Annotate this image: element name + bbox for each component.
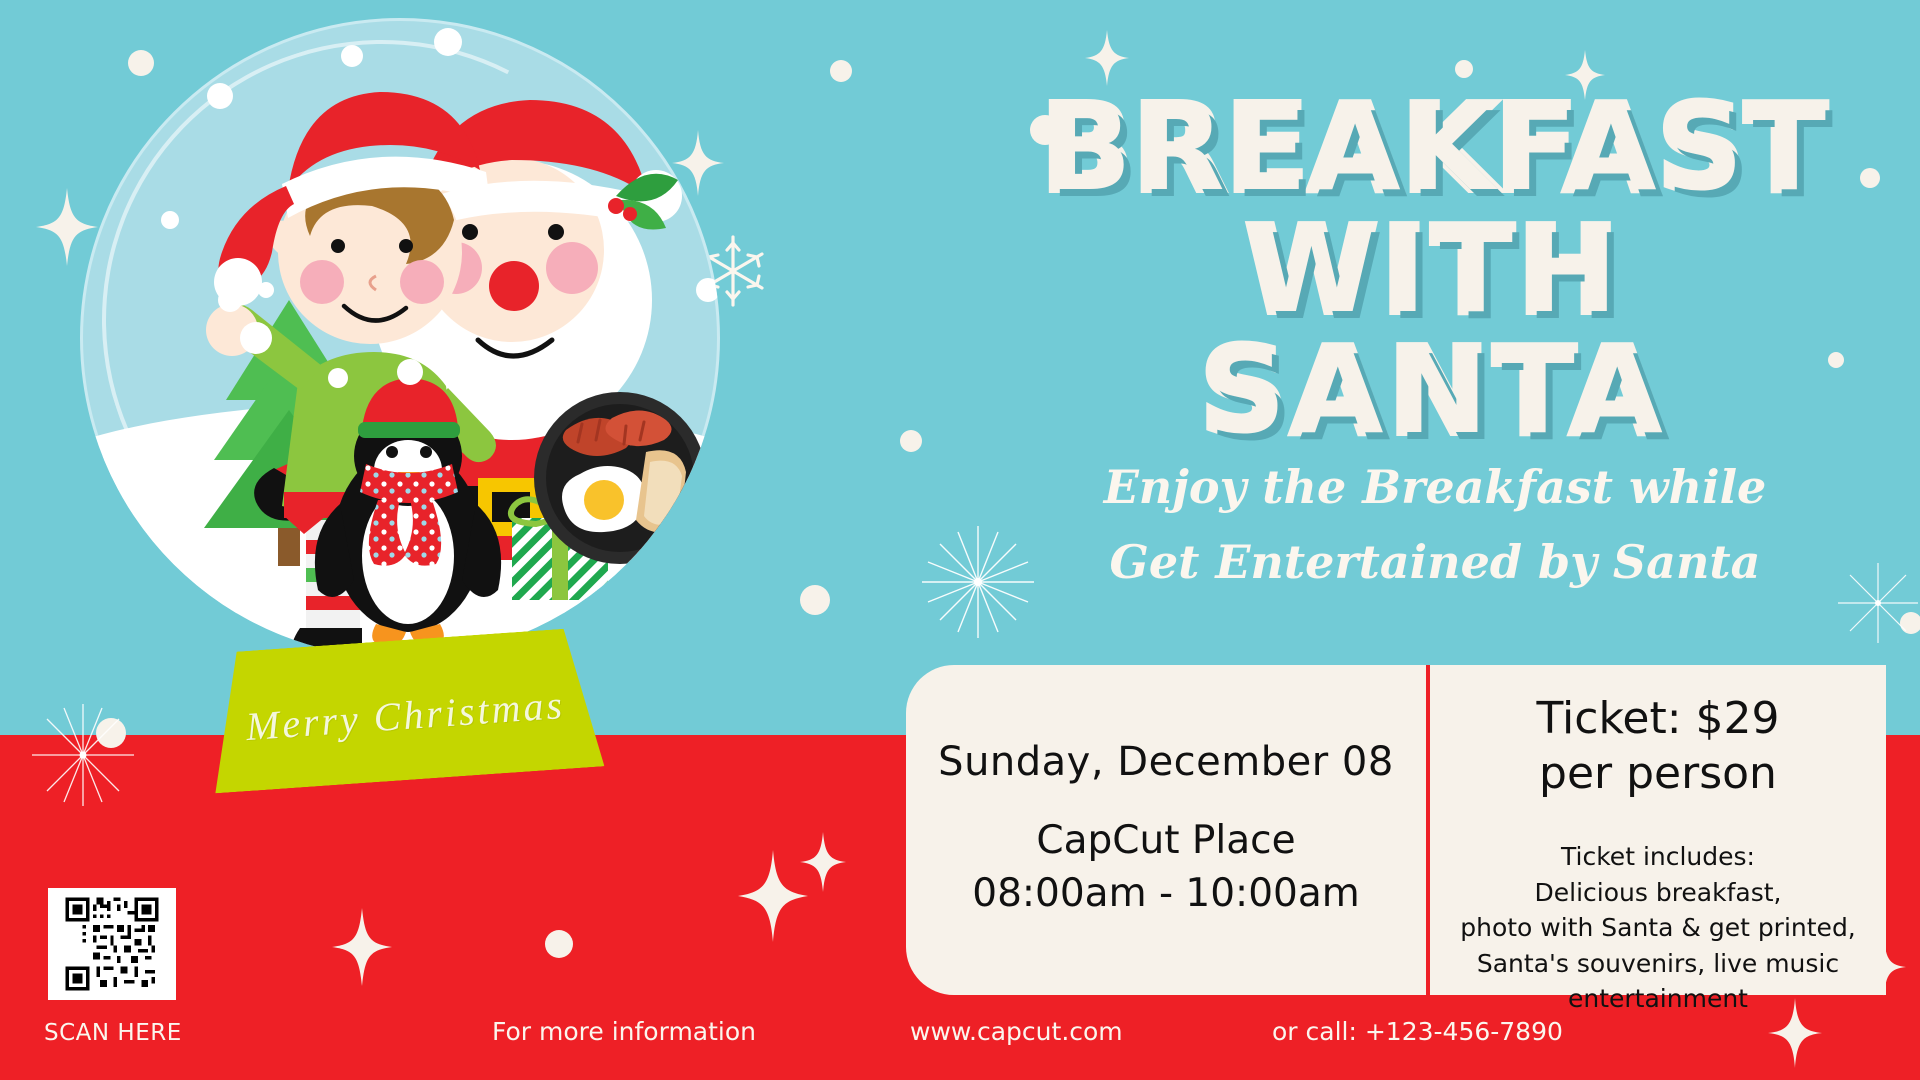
event-info-card: Sunday, December 08 CapCut Place 08:00am… — [906, 665, 1886, 995]
page-title: BREAKFAST WITH SANTA — [1020, 88, 1850, 453]
website-link[interactable]: www.capcut.com — [910, 1017, 1123, 1046]
ticket-price-line-1: Ticket: $29 — [1537, 691, 1780, 746]
merry-christmas-label: Merry Christmas — [209, 678, 601, 752]
headline-line-1: BREAKFAST — [1042, 79, 1828, 217]
headline-line-2: WITH SANTA — [1020, 210, 1850, 453]
sparkle-icon — [332, 908, 392, 986]
ticket-section: Ticket: $29 per person Ticket includes: … — [1430, 665, 1886, 995]
snow-dot — [1455, 60, 1473, 78]
qr-code[interactable] — [48, 888, 176, 1000]
qr-code-image — [54, 894, 170, 994]
includes-line-2: photo with Santa & get printed, — [1460, 910, 1856, 946]
more-information-label: For more information — [492, 1017, 756, 1046]
snow-dot — [1860, 168, 1880, 188]
sparkle-icon — [800, 832, 846, 892]
snow-dot — [830, 60, 852, 82]
event-venue-time: CapCut Place 08:00am - 10:00am — [972, 815, 1359, 920]
event-date: Sunday, December 08 — [938, 739, 1394, 785]
scan-here-label: SCAN HERE — [44, 1020, 182, 1046]
snow-dot — [900, 430, 922, 452]
event-time: 08:00am - 10:00am — [972, 868, 1359, 921]
event-details-section: Sunday, December 08 CapCut Place 08:00am… — [906, 665, 1426, 995]
event-venue: CapCut Place — [972, 815, 1359, 868]
subtitle-line-2: Get Entertained by Santa — [1020, 525, 1850, 600]
flyer-canvas: Merry Christmas BREAKFAST WITH SANTA Enj… — [0, 0, 1920, 1080]
breakfast-plate-icon — [534, 392, 706, 564]
includes-line-4: entertainment — [1460, 981, 1856, 1017]
ticket-includes: Ticket includes: Delicious breakfast, ph… — [1460, 839, 1856, 1017]
includes-line-3: Santa's souvenirs, live music — [1460, 946, 1856, 982]
ticket-price-line-2: per person — [1537, 746, 1780, 801]
ticket-price: Ticket: $29 per person — [1537, 691, 1780, 819]
phone-number[interactable]: or call: +123-456-7890 — [1272, 1017, 1563, 1046]
includes-heading: Ticket includes: — [1460, 839, 1856, 875]
subtitle: Enjoy the Breakfast while Get Entertaine… — [1020, 450, 1850, 599]
sparkle-icon — [1085, 30, 1129, 86]
subtitle-line-1: Enjoy the Breakfast while — [1020, 450, 1850, 525]
snow-dot — [545, 930, 573, 958]
snow-globe-illustration: Merry Christmas — [60, 0, 760, 830]
sparkle-icon — [738, 850, 808, 942]
globe-base: Merry Christmas — [206, 627, 605, 794]
includes-line-1: Delicious breakfast, — [1460, 875, 1856, 911]
snow-dot — [800, 585, 830, 615]
